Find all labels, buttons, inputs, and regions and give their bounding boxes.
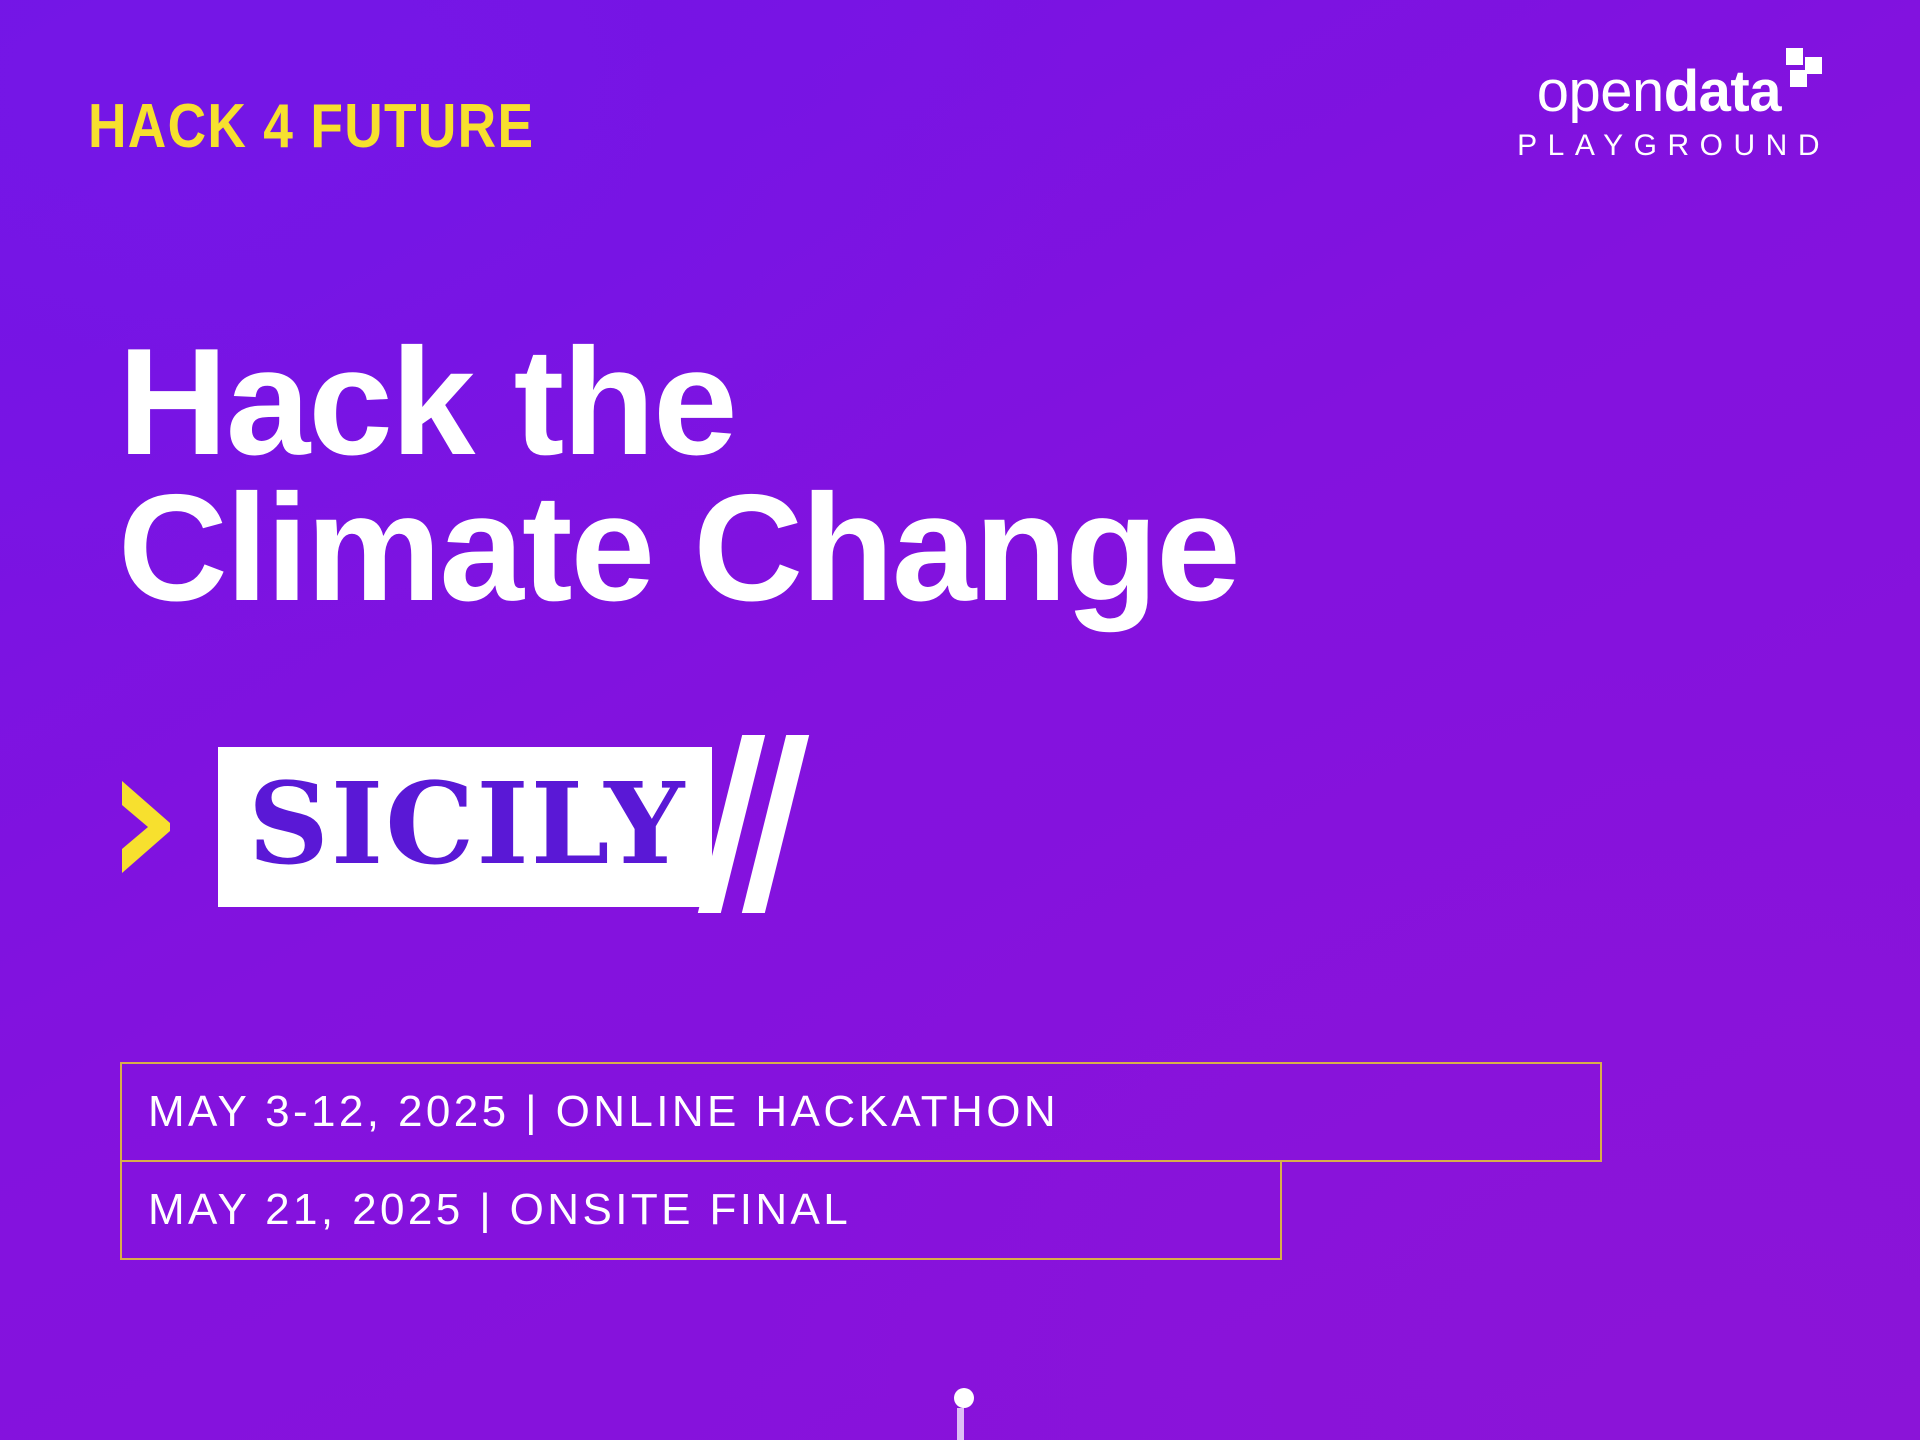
location-badge: SICILY xyxy=(218,747,808,907)
logo-wordmark: open data xyxy=(1507,64,1830,119)
chevron-right-icon xyxy=(118,775,174,879)
event-kicker: HACK 4 FUTURE xyxy=(88,96,534,158)
scroll-down-pin-icon[interactable] xyxy=(954,1388,966,1440)
date-box-online-hackathon: MAY 3-12, 2025 | ONLINE HACKATHON xyxy=(120,1062,1602,1162)
page-title: Hack the Climate Change xyxy=(118,330,1239,622)
date-box-onsite-final: MAY 21, 2025 | ONSITE FINAL xyxy=(120,1162,1282,1260)
headline-line-1: Hack the xyxy=(118,330,1239,476)
pin-dot xyxy=(954,1388,974,1408)
pin-stem xyxy=(957,1408,964,1440)
poster-canvas: HACK 4 FUTURE open data PLAYGROUND Hack … xyxy=(0,0,1920,1440)
event-dates: MAY 3-12, 2025 | ONLINE HACKATHON MAY 21… xyxy=(120,1062,1920,1260)
location-row: SICILY xyxy=(118,742,808,912)
logo-subtitle: PLAYGROUND xyxy=(1507,131,1830,161)
logo-word-open: open xyxy=(1537,64,1664,119)
location-name: SICILY xyxy=(218,747,712,907)
headline-line-2: Climate Change xyxy=(118,476,1239,622)
opendata-playground-logo[interactable]: open data PLAYGROUND xyxy=(1507,64,1830,161)
logo-word-data: data xyxy=(1664,64,1781,119)
double-slash-icon xyxy=(716,747,808,907)
pixel-arrow-icon xyxy=(1786,48,1830,100)
